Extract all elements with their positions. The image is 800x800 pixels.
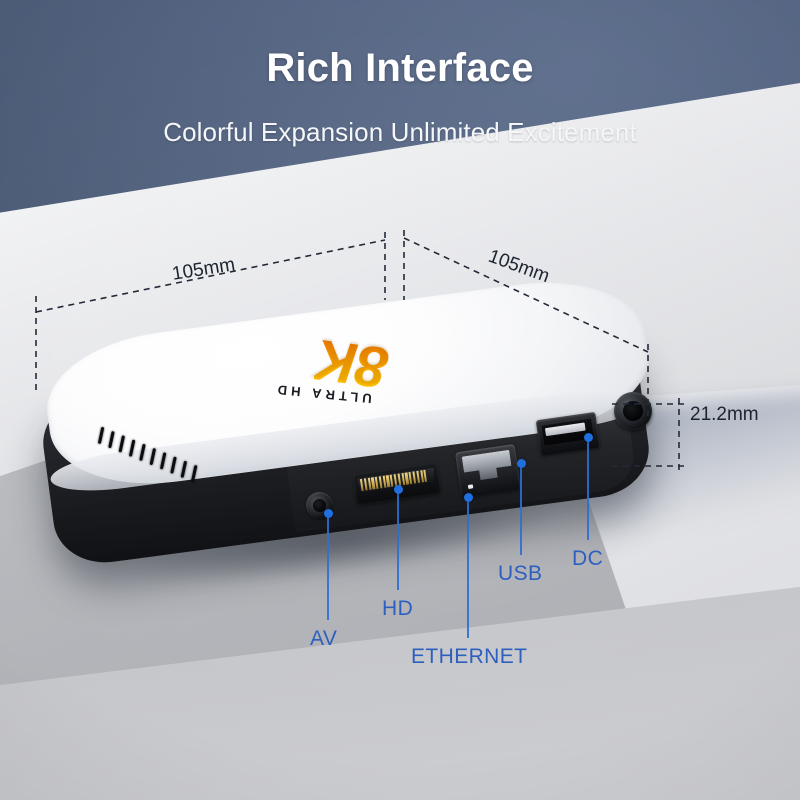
callout-label-av: AV xyxy=(310,627,337,651)
callout-dot-ethernet xyxy=(464,493,473,502)
callout-label-dc: DC xyxy=(572,547,603,571)
callout-dot-usb xyxy=(517,459,526,468)
callout-label-usb: USB xyxy=(498,562,542,586)
callout-dot-dc xyxy=(584,433,593,442)
callout-dot-hd xyxy=(394,485,403,494)
callout-label-hd: HD xyxy=(382,597,413,621)
callout-dot-av xyxy=(324,509,333,518)
callout-label-ethernet: ETHERNET xyxy=(411,645,527,669)
product-marketing-image: Rich Interface Colorful Expansion Unlimi… xyxy=(0,0,800,800)
port-callouts: AV HD ETHERNET USB DC xyxy=(0,0,800,800)
